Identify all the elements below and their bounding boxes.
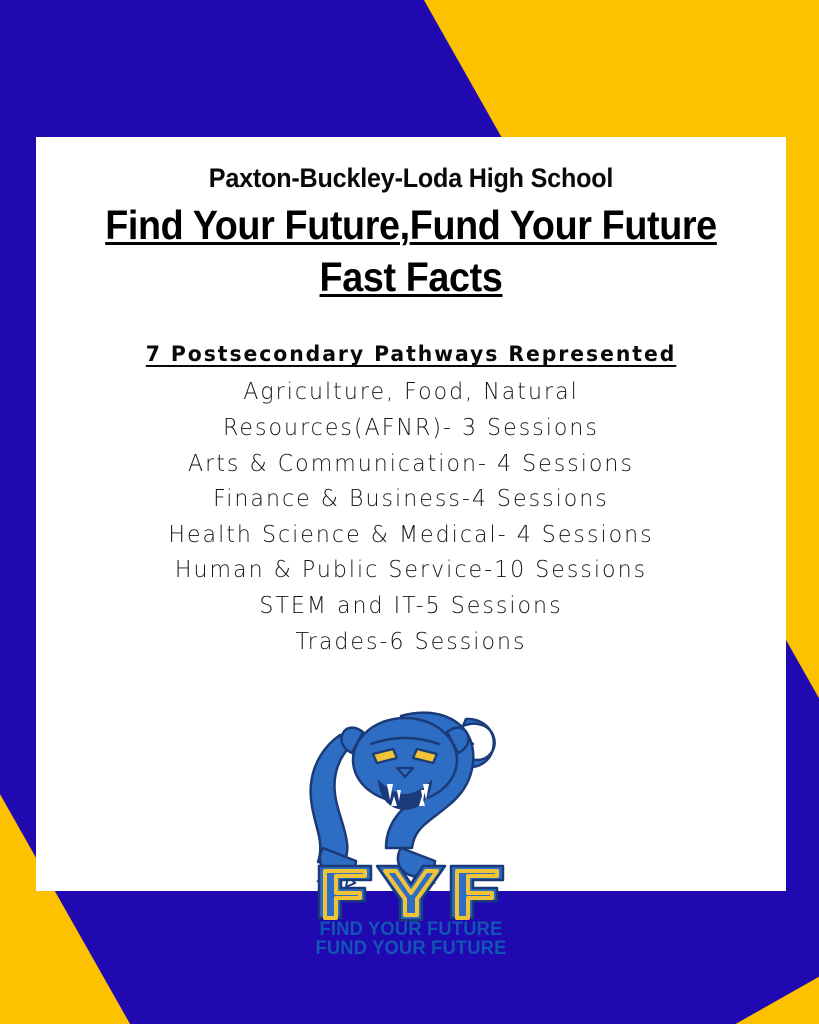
list-item: Health Science & Medical- 4 Sessions xyxy=(64,518,757,554)
list-item: Human & Public Service-10 Sessions xyxy=(64,553,757,589)
list-item: Trades-6 Sessions xyxy=(64,625,757,661)
list-item: Arts & Communication- 4 Sessions xyxy=(64,447,757,483)
school-name: Paxton-Buckley-Loda High School xyxy=(75,163,746,194)
logo-tagline: FIND YOUR FUTURE FUND YOUR FUTURE xyxy=(311,920,510,958)
content-card: Paxton-Buckley-Loda High School Find You… xyxy=(36,137,786,891)
pathways-subheading: 7 Postsecondary Pathways Represented xyxy=(61,342,761,366)
title-part-fastfacts: Fast Facts xyxy=(320,254,503,300)
poster-canvas: Paxton-Buckley-Loda High School Find You… xyxy=(0,0,819,1024)
fyf-logo: FIND YOUR FUTURE FUND YOUR FUTURE xyxy=(305,698,517,958)
pathways-list: Agriculture, Food, Natural Resources(AFN… xyxy=(50,375,772,660)
list-item: Finance & Business-4 Sessions xyxy=(64,482,757,518)
title-part-find: Find Your Future, xyxy=(105,202,410,248)
list-item: Agriculture, Food, Natural xyxy=(64,375,757,411)
page-title: Find Your Future,Fund Your Future Fast F… xyxy=(79,200,743,303)
title-part-fund: Fund Your Future xyxy=(410,202,717,248)
list-item: STEM and IT-5 Sessions xyxy=(64,589,757,625)
logo-tagline-line2: FUND YOUR FUTURE xyxy=(311,939,510,958)
list-item: Resources(AFNR)- 3 Sessions xyxy=(64,411,757,447)
